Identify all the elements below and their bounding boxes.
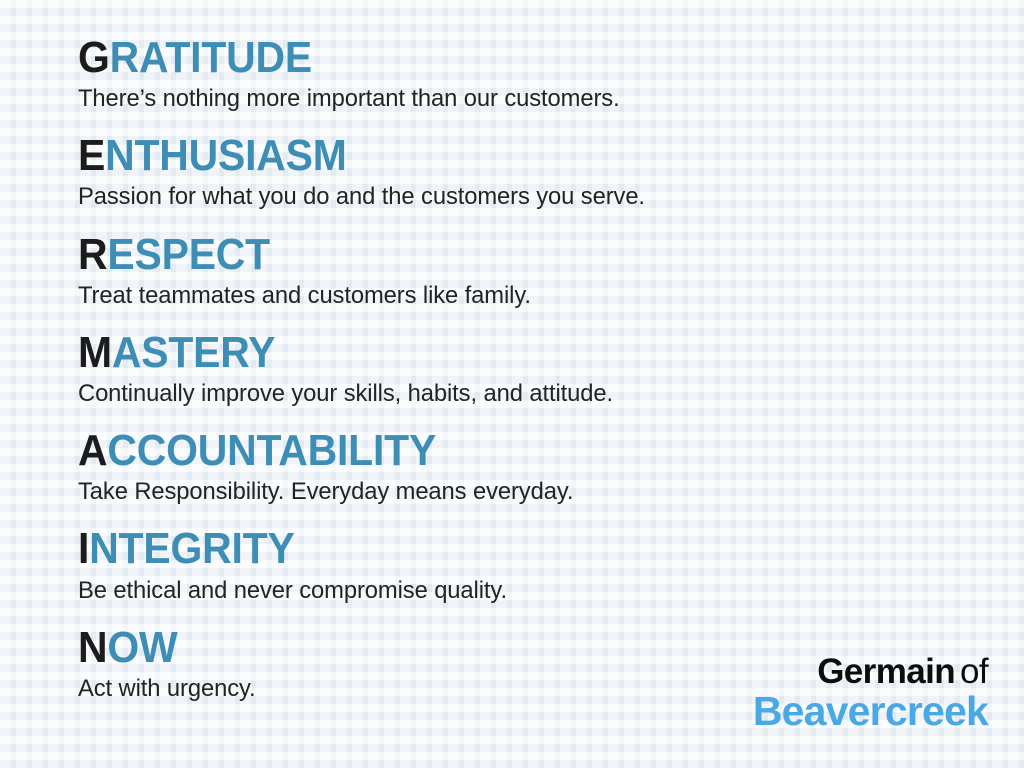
value-heading-mastery: MASTERY	[78, 331, 915, 374]
value-initial-letter: I	[78, 524, 89, 573]
value-heading-remainder: ASTERY	[112, 328, 275, 377]
value-item-enthusiasm: ENTHUSIASM Passion for what you do and t…	[78, 134, 978, 211]
value-initial-letter: E	[78, 131, 105, 180]
value-initial-letter: N	[78, 623, 107, 672]
value-item-integrity: INTEGRITY Be ethical and never compromis…	[78, 527, 978, 604]
logo-location-name: Beavercreek	[753, 691, 988, 732]
value-initial-letter: M	[78, 328, 112, 377]
value-heading-accountability: ACCOUNTABILITY	[78, 429, 915, 472]
value-description-integrity: Be ethical and never compromise quality.	[78, 577, 951, 605]
value-item-mastery: MASTERY Continually improve your skills,…	[78, 331, 978, 408]
value-heading-remainder: ESPECT	[107, 230, 270, 279]
value-heading-enthusiasm: ENTHUSIASM	[78, 134, 915, 177]
value-description-respect: Treat teammates and customers like famil…	[78, 282, 951, 310]
core-values-list: GRATITUDE There’s nothing more important…	[78, 36, 978, 724]
value-heading-remainder: OW	[107, 623, 177, 672]
value-heading-remainder: NTHUSIASM	[105, 131, 347, 180]
values-poster: GRATITUDE There’s nothing more important…	[0, 0, 1024, 768]
value-item-respect: RESPECT Treat teammates and customers li…	[78, 233, 978, 310]
value-description-enthusiasm: Passion for what you do and the customer…	[78, 183, 951, 211]
value-initial-letter: R	[78, 230, 107, 279]
value-heading-integrity: INTEGRITY	[78, 527, 915, 570]
value-heading-remainder: CCOUNTABILITY	[107, 426, 436, 475]
value-item-accountability: ACCOUNTABILITY Take Responsibility. Ever…	[78, 429, 978, 506]
logo-connector-word: of	[960, 652, 988, 691]
value-heading-remainder: NTEGRITY	[89, 524, 294, 573]
value-heading-respect: RESPECT	[78, 233, 915, 276]
logo-top-line: Germainof	[753, 654, 988, 689]
dealership-logo: Germainof Beavercreek	[753, 654, 988, 732]
value-heading-gratitude: GRATITUDE	[78, 36, 915, 79]
logo-brand-name: Germain	[817, 652, 955, 691]
value-heading-remainder: RATITUDE	[110, 33, 312, 82]
value-item-gratitude: GRATITUDE There’s nothing more important…	[78, 36, 978, 113]
value-initial-letter: G	[78, 33, 110, 82]
value-description-accountability: Take Responsibility. Everyday means ever…	[78, 478, 951, 506]
value-description-mastery: Continually improve your skills, habits,…	[78, 380, 951, 408]
value-description-gratitude: There’s nothing more important than our …	[78, 85, 951, 113]
value-initial-letter: A	[78, 426, 107, 475]
